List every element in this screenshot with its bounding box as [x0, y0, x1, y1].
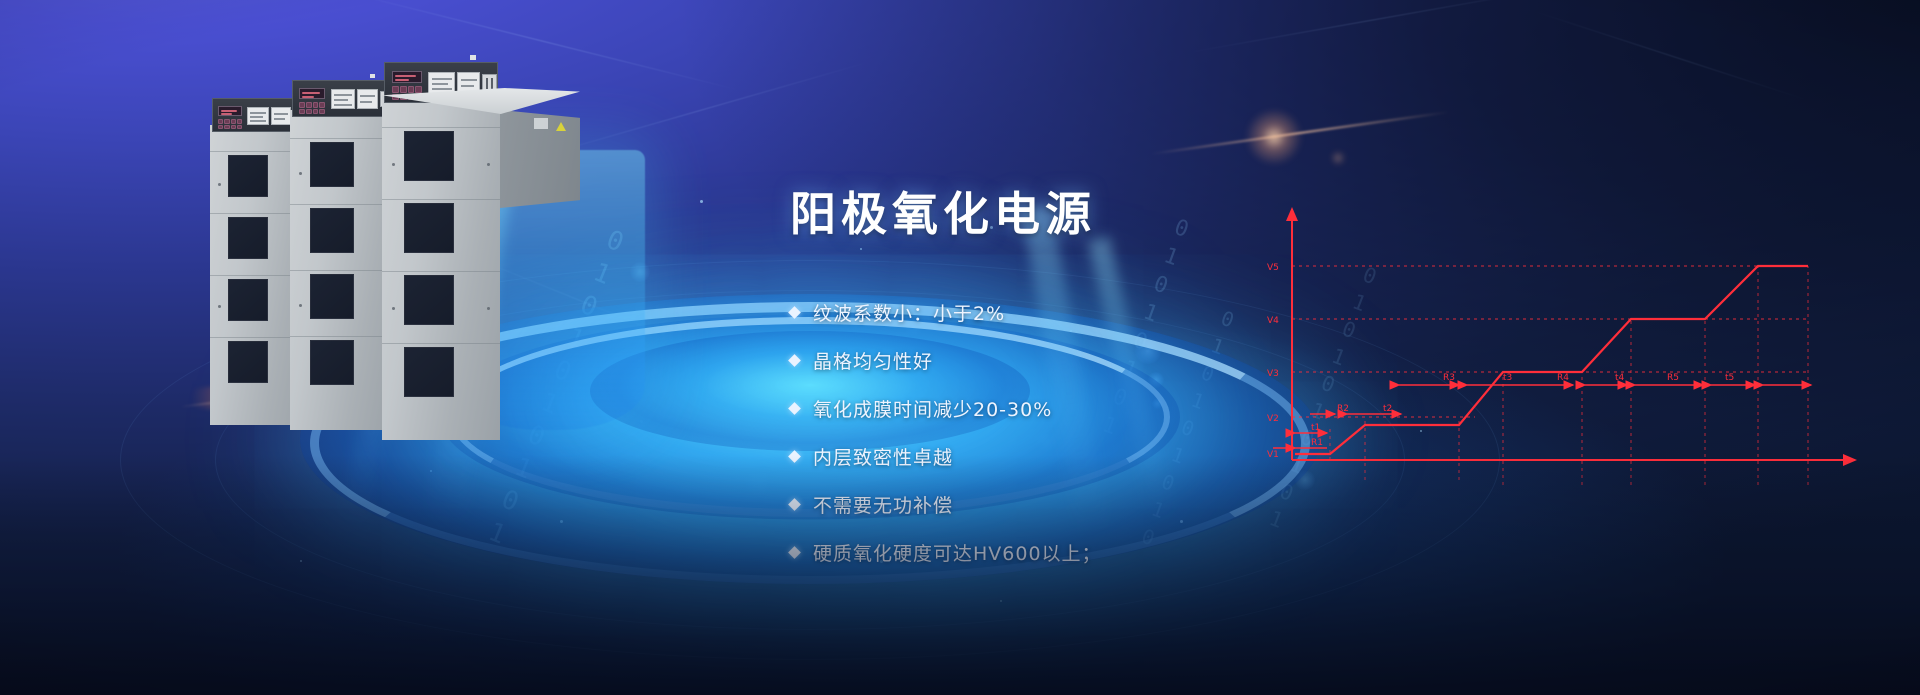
- vignette-overlay: [0, 0, 1920, 695]
- banner-stage: 0101010101 01010101 010101010 0101010101: [0, 0, 1920, 695]
